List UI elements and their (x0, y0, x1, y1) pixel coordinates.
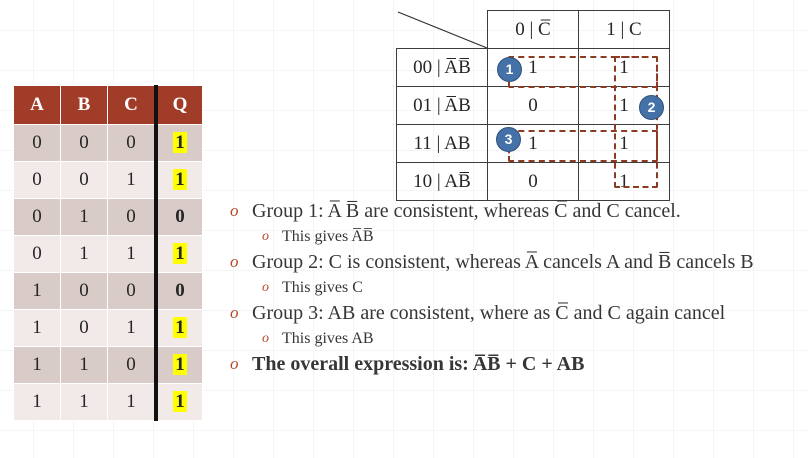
bullet-marker-icon: o (230, 300, 252, 326)
kmap-group-2-badge: 2 (639, 95, 664, 120)
kmap-col-header-0: 0 | C̅ (488, 11, 579, 49)
cell-a: 1 (14, 273, 61, 310)
kmap-row: 11 | AB 1 1 (397, 125, 670, 163)
cell-b: 0 (61, 310, 108, 347)
list-item: o Group 1: A̅ B̅ are consistent, whereas… (230, 198, 805, 224)
column-header-a: A (14, 86, 61, 125)
table-header-row: A B C Q (14, 86, 203, 125)
cell-q-value: 1 (173, 243, 187, 264)
cell-c: 1 (108, 310, 157, 347)
list-item-text: Group 2: C is consistent, whereas A̅ can… (252, 249, 754, 275)
cell-q-value: 1 (173, 169, 187, 190)
kmap-corner-cell (397, 11, 488, 49)
list-item: o This gives C (230, 276, 805, 299)
cell-q-value: 0 (175, 280, 185, 301)
list-item: o This gives AB (230, 327, 805, 350)
table-row: 0 1 1 1 (14, 236, 203, 273)
list-item: o Group 3: AB are consistent, where as C… (230, 300, 805, 326)
cell-b: 0 (61, 162, 108, 199)
table-row: 1 1 0 1 (14, 347, 203, 384)
kmap-cell-r1c0: 0 (488, 87, 579, 125)
list-item-text: This gives C (282, 276, 363, 299)
cell-a: 0 (14, 162, 61, 199)
column-header-b: B (61, 86, 108, 125)
table-row: 1 1 1 1 (14, 384, 203, 421)
truth-table: A B C Q 0 0 0 1 0 0 1 1 0 1 0 0 0 1 1 1 (13, 85, 203, 421)
cell-a: 1 (14, 347, 61, 384)
kmap-row: 00 | A̅B̅ 1 1 (397, 49, 670, 87)
cell-a: 0 (14, 236, 61, 273)
list-item: o This gives A̅B̅ (230, 225, 805, 248)
kmap-group-1-badge: 1 (497, 57, 522, 82)
kmap-cell-r2c1: 1 (579, 125, 670, 163)
cell-a: 1 (14, 310, 61, 347)
kmap-group-3-badge: 3 (496, 127, 521, 152)
cell-c: 1 (108, 162, 157, 199)
kmap-row: 10 | AB̅ 0 1 (397, 163, 670, 201)
cell-q: 1 (156, 310, 203, 347)
list-item-text: Group 1: A̅ B̅ are consistent, whereas C… (252, 198, 681, 224)
cell-b: 1 (61, 199, 108, 236)
cell-c: 0 (108, 125, 157, 162)
cell-c: 1 (108, 384, 157, 421)
cell-q: 1 (156, 347, 203, 384)
kmap-cell-r3c1: 1 (579, 163, 670, 201)
cell-a: 0 (14, 199, 61, 236)
table-row: 0 0 1 1 (14, 162, 203, 199)
kmap-row-header-3: 10 | AB̅ (397, 163, 488, 201)
cell-c: 0 (108, 199, 157, 236)
kmap-col-header-1: 1 | C (579, 11, 670, 49)
karnaugh-map: 0 | C̅ 1 | C 00 | A̅B̅ 1 1 01 | A̅B 0 1 … (396, 10, 670, 201)
cell-c: 1 (108, 236, 157, 273)
list-item-text: This gives A̅B̅ (282, 225, 374, 248)
cell-b: 1 (61, 236, 108, 273)
cell-q: 1 (156, 125, 203, 162)
cell-q-value: 1 (173, 317, 187, 338)
bullet-marker-icon: o (262, 225, 282, 248)
kmap-row-header-2: 11 | AB (397, 125, 488, 163)
column-header-q: Q (156, 86, 203, 125)
cell-b: 1 (61, 347, 108, 384)
bullet-marker-icon: o (230, 351, 252, 377)
cell-q: 1 (156, 384, 203, 421)
cell-a: 1 (14, 384, 61, 421)
cell-q-value: 1 (173, 354, 187, 375)
list-item-text: Group 3: AB are consistent, where as C̅ … (252, 300, 725, 326)
kmap-row-header-1: 01 | A̅B (397, 87, 488, 125)
kmap-header-row: 0 | C̅ 1 | C (397, 11, 670, 49)
kmap-cell-r0c1: 1 (579, 49, 670, 87)
cell-b: 0 (61, 273, 108, 310)
table-row: 0 1 0 0 (14, 199, 203, 236)
list-item: o Group 2: C is consistent, whereas A̅ c… (230, 249, 805, 275)
cell-q-value: 1 (173, 132, 187, 153)
kmap-cell-r3c0: 0 (488, 163, 579, 201)
bullet-marker-icon: o (230, 249, 252, 275)
bullet-marker-icon: o (262, 327, 282, 350)
list-item-text: This gives AB (282, 327, 374, 350)
kmap-row: 01 | A̅B 0 1 (397, 87, 670, 125)
cell-q: 0 (156, 199, 203, 236)
bullet-marker-icon: o (230, 198, 252, 224)
explanation-list: o Group 1: A̅ B̅ are consistent, whereas… (230, 198, 805, 378)
table-row: 1 0 0 0 (14, 273, 203, 310)
cell-c: 0 (108, 347, 157, 384)
cell-q-value: 0 (175, 206, 185, 227)
diagonal-divider-icon (397, 11, 487, 48)
cell-a: 0 (14, 125, 61, 162)
truth-table-body: 0 0 0 1 0 0 1 1 0 1 0 0 0 1 1 1 1 0 0 0 (14, 125, 203, 421)
cell-q: 1 (156, 162, 203, 199)
cell-q: 1 (156, 236, 203, 273)
cell-q-value: 1 (173, 391, 187, 412)
list-item: o The overall expression is: A̅B̅ + C + … (230, 351, 805, 377)
bullet-marker-icon: o (262, 276, 282, 299)
list-item-text: The overall expression is: A̅B̅ + C + AB (252, 351, 584, 377)
cell-q: 0 (156, 273, 203, 310)
cell-b: 0 (61, 125, 108, 162)
table-row: 0 0 0 1 (14, 125, 203, 162)
cell-b: 1 (61, 384, 108, 421)
table-row: 1 0 1 1 (14, 310, 203, 347)
cell-c: 0 (108, 273, 157, 310)
column-header-c: C (108, 86, 157, 125)
kmap-row-header-0: 00 | A̅B̅ (397, 49, 488, 87)
